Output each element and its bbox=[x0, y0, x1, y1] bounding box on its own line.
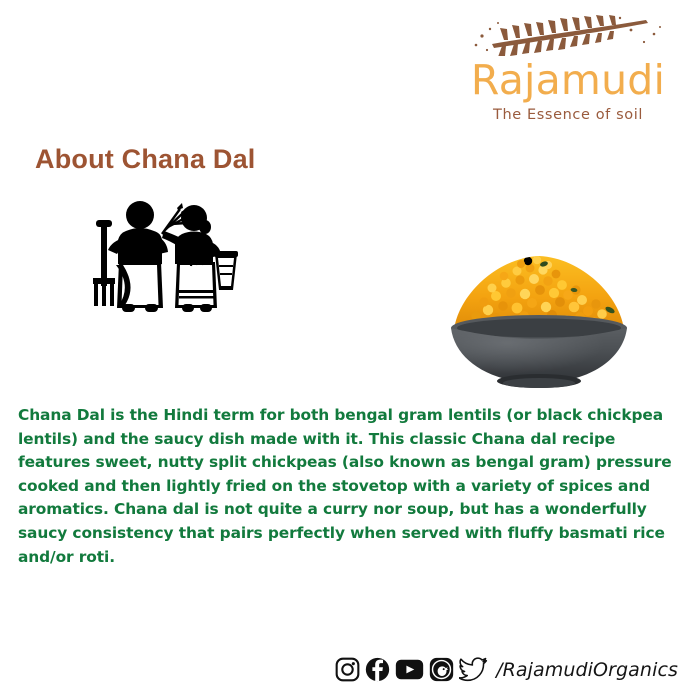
bowl-of-chana-dal-image bbox=[424, 238, 654, 390]
about-paragraph: Chana Dal is the Hindi term for both ben… bbox=[18, 404, 682, 569]
facebook-icon[interactable] bbox=[365, 657, 390, 682]
brand-logo: Rajamudi The Essence of soil bbox=[458, 14, 678, 123]
youtube-icon[interactable] bbox=[395, 657, 424, 682]
brand-wordmark: Rajamudi bbox=[458, 56, 678, 104]
footer-social-bar: /RajamudiOrganics bbox=[0, 657, 700, 682]
two-farmers-silhouette-icon bbox=[93, 196, 239, 316]
wheat-sprig-icon bbox=[468, 14, 668, 56]
instagram-icon[interactable] bbox=[335, 657, 360, 682]
page-title: About Chana Dal bbox=[35, 144, 256, 175]
twitter-icon[interactable] bbox=[459, 657, 488, 682]
koo-icon[interactable] bbox=[429, 657, 454, 682]
social-handle: /RajamudiOrganics bbox=[496, 659, 678, 681]
brand-tagline: The Essence of soil bbox=[458, 107, 678, 123]
